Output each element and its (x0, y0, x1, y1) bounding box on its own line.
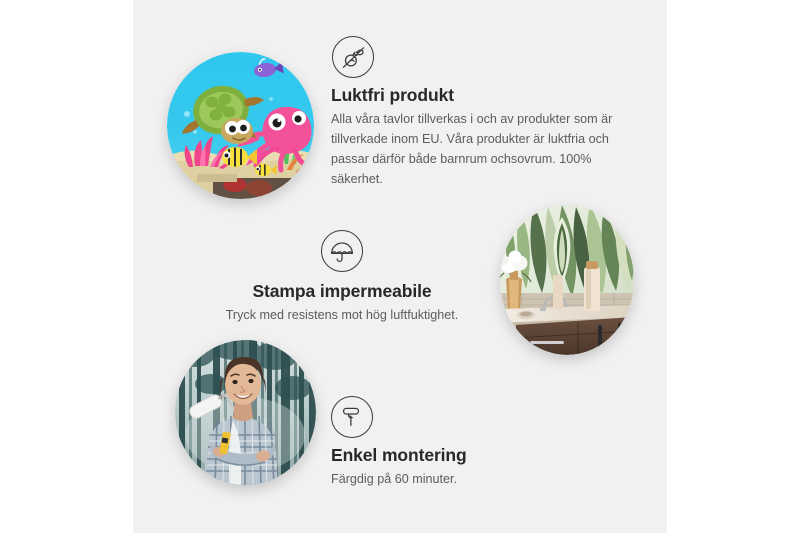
feature-odourless: Luktfri produkt Alla våra tavlor tillver… (331, 36, 631, 190)
feature-title: Luktfri produkt (331, 85, 631, 106)
feature-description: Tryck med resistens mot hög luftfuktighe… (196, 306, 488, 326)
photo-bathroom (500, 205, 634, 355)
feature-description: Alla våra tavlor tillverkas i och av pro… (331, 110, 631, 190)
feature-showcase-canvas: Luktfri produkt Alla våra tavlor tillver… (0, 0, 800, 533)
umbrella-icon (321, 230, 363, 272)
photo-underwater (167, 52, 314, 199)
feature-waterproof: Stampa impermeabile Tryck med resistens … (196, 230, 488, 326)
photo-painter (175, 340, 316, 485)
no-fragrance-bottle-icon (332, 36, 374, 78)
feature-description: Färgdig på 60 minuter. (331, 470, 611, 490)
paint-roller-icon (331, 396, 373, 438)
feature-title: Stampa impermeabile (196, 281, 488, 302)
feature-assembly: Enkel montering Färgdig på 60 minuter. (331, 396, 611, 490)
feature-title: Enkel montering (331, 445, 611, 466)
